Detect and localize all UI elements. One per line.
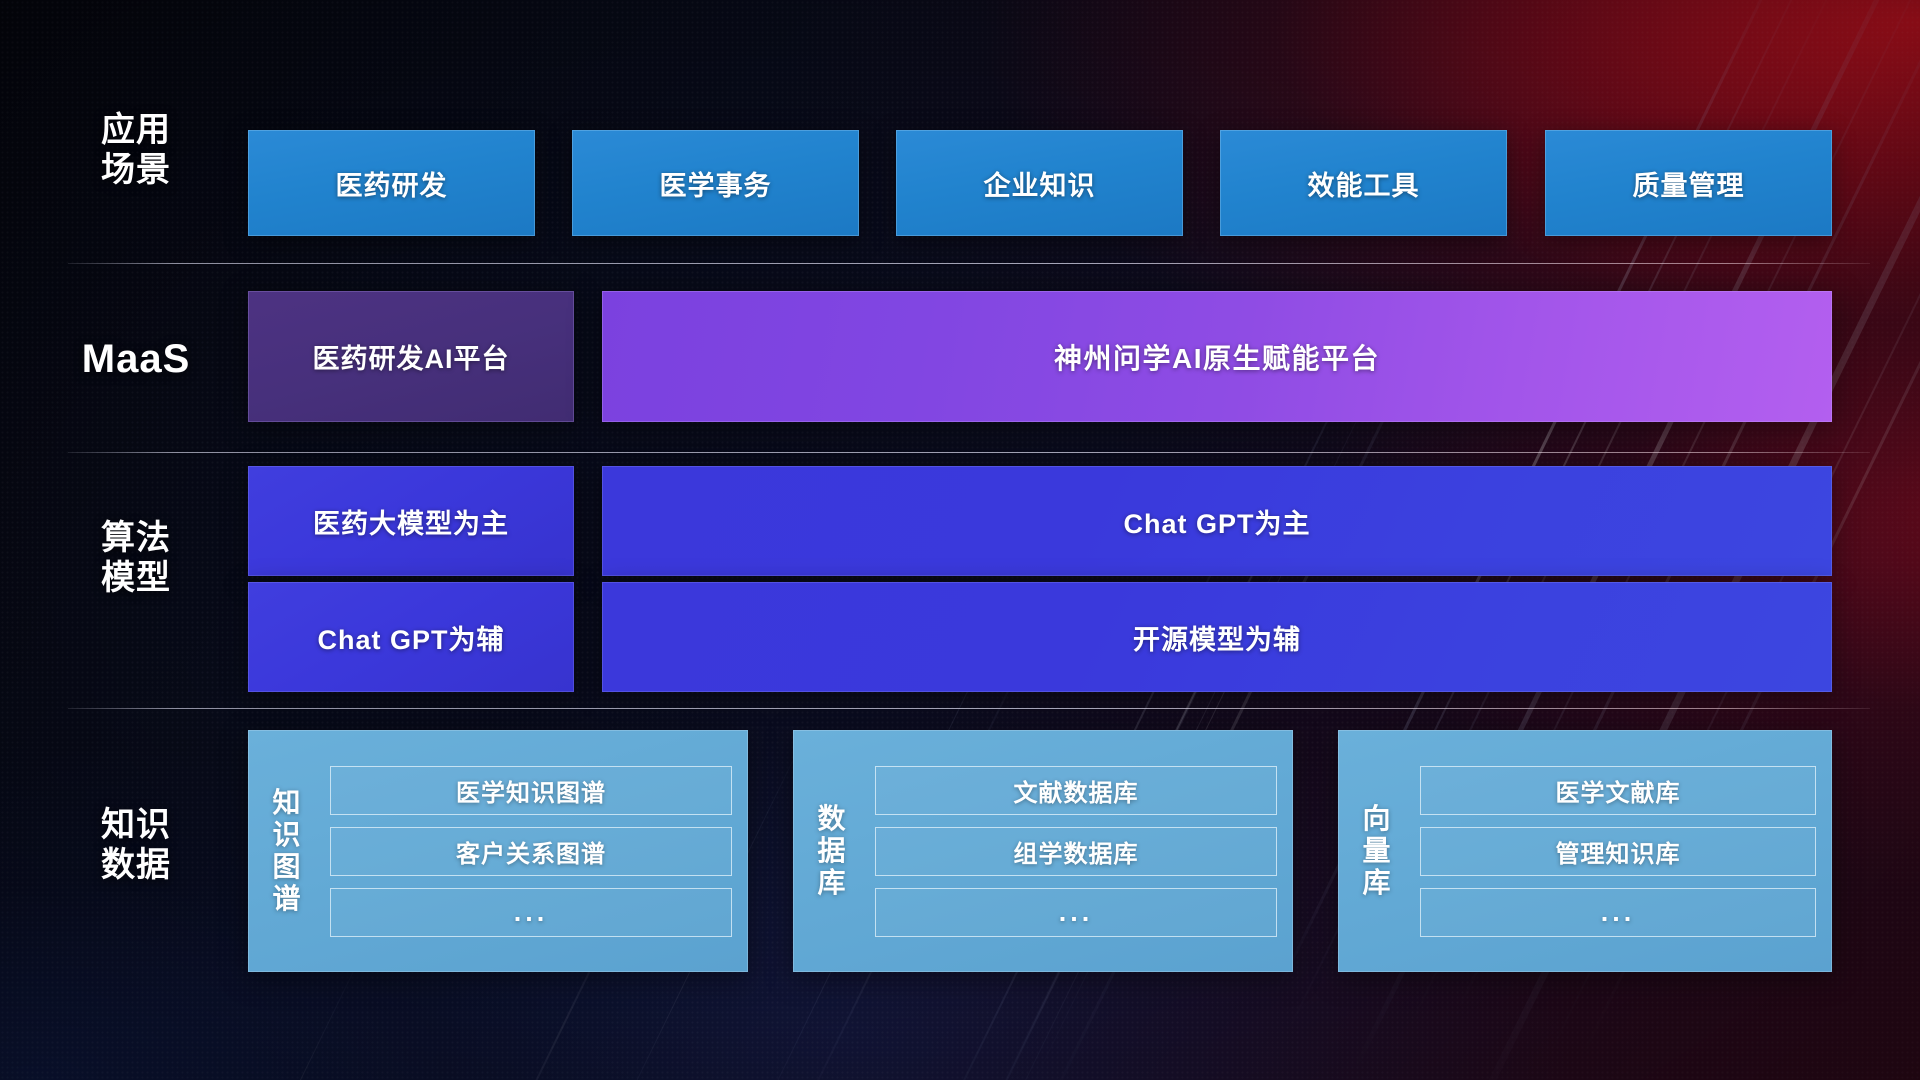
knowledge-panel-items: 医学知识图谱 客户关系图谱 ... [326,730,748,972]
scene-card-medicine-rd[interactable]: 医药研发 [248,130,535,236]
scene-card-quality-management[interactable]: 质量管理 [1545,130,1832,236]
side-label-char: 谱 [272,883,301,915]
row-divider-2 [68,452,1870,453]
knowledge-panel-side-label-knowledge-graph: 知 识 图 谱 [248,730,326,972]
algo-card-label: 开源模型为辅 [1133,618,1301,657]
scene-card-medical-affairs[interactable]: 医学事务 [572,130,859,236]
scene-card-label: 效能工具 [1308,164,1420,203]
knowledge-panel-database[interactable]: 数 据 库 文献数据库 组学数据库 ... [793,730,1293,972]
row-label-line: 场景 [68,150,204,190]
knowledge-panel-side-label-database: 数 据 库 [793,730,871,972]
side-label-char: 数 [817,803,846,835]
side-label-char: 量 [1362,835,1391,867]
row-label-knowledge-data: 知识 数据 [68,805,204,885]
scene-card-label: 医学事务 [660,164,772,203]
knowledge-panel-side-label-vector-store: 向 量 库 [1338,730,1416,972]
scene-card-efficiency-tools[interactable]: 效能工具 [1220,130,1507,236]
knowledge-item[interactable]: 客户关系图谱 [330,827,732,876]
maas-card-shenzhou-wenxue-platform[interactable]: 神州问学AI原生赋能平台 [602,291,1832,422]
knowledge-item-more[interactable]: ... [875,888,1277,937]
knowledge-item-more[interactable]: ... [1420,888,1816,937]
algo-card-chatgpt-primary[interactable]: Chat GPT为主 [602,466,1832,576]
row-label-line: 知识 [68,805,204,845]
algo-card-medicine-large-model-primary[interactable]: 医药大模型为主 [248,466,574,576]
knowledge-item[interactable]: 医学知识图谱 [330,766,732,815]
side-label-char: 知 [272,787,301,819]
side-label-char: 识 [272,819,301,851]
algo-card-chatgpt-secondary[interactable]: Chat GPT为辅 [248,582,574,692]
row-label-line: 应用 [68,110,204,150]
row-divider-1 [68,263,1870,264]
knowledge-item[interactable]: 管理知识库 [1420,827,1816,876]
knowledge-panel-items: 文献数据库 组学数据库 ... [871,730,1293,972]
row-label-line: 模型 [68,558,204,598]
maas-card-medicine-rd-ai-platform[interactable]: 医药研发AI平台 [248,291,574,422]
algo-card-opensource-secondary[interactable]: 开源模型为辅 [602,582,1832,692]
knowledge-panel-items: 医学文献库 管理知识库 ... [1416,730,1832,972]
side-label-char: 图 [272,851,301,883]
side-label-char: 库 [1362,867,1391,899]
side-label-char: 向 [1362,803,1391,835]
knowledge-item[interactable]: 组学数据库 [875,827,1277,876]
row-label-maas: MaaS [68,336,204,383]
row-label-algorithm-model: 算法 模型 [68,518,204,598]
row-label-line: MaaS [68,336,204,383]
algo-card-label: Chat GPT为主 [1123,502,1310,541]
knowledge-item[interactable]: 医学文献库 [1420,766,1816,815]
scene-card-label: 质量管理 [1633,164,1745,203]
algo-card-label: Chat GPT为辅 [317,618,504,657]
knowledge-panel-knowledge-graph[interactable]: 知 识 图 谱 医学知识图谱 客户关系图谱 ... [248,730,748,972]
scene-card-enterprise-knowledge[interactable]: 企业知识 [896,130,1183,236]
scene-card-label: 医药研发 [336,164,448,203]
row-label-line: 算法 [68,518,204,558]
knowledge-panel-vector-store[interactable]: 向 量 库 医学文献库 管理知识库 ... [1338,730,1832,972]
knowledge-item-more[interactable]: ... [330,888,732,937]
knowledge-item[interactable]: 文献数据库 [875,766,1277,815]
algo-card-label: 医药大模型为主 [313,502,509,541]
side-label-char: 据 [817,835,846,867]
maas-card-label: 神州问学AI原生赋能平台 [1054,337,1380,377]
side-label-char: 库 [817,867,846,899]
row-label-application-scenarios: 应用 场景 [68,110,204,190]
row-label-line: 数据 [68,845,204,885]
maas-card-label: 医药研发AI平台 [313,337,510,376]
scene-card-label: 企业知识 [984,164,1096,203]
diagram-stage: 应用 场景 医药研发 医学事务 企业知识 效能工具 质量管理 MaaS 医药研发… [0,0,1920,1080]
row-divider-3 [68,708,1870,709]
